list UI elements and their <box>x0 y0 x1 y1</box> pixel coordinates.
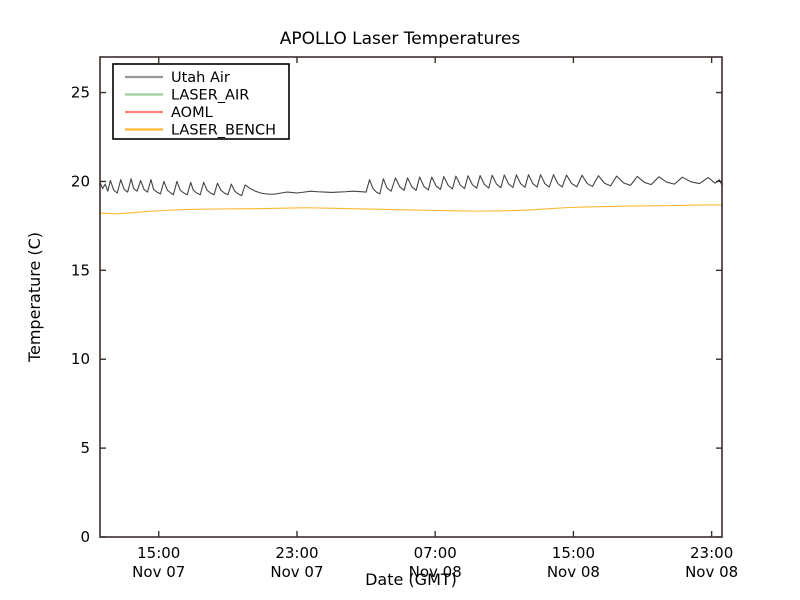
x-tick-label-time: 23:00 <box>275 544 318 562</box>
legend-label-laser-air: LASER_AIR <box>171 88 249 104</box>
temperature-line-chart: APOLLO Laser Temperatures 15:00Nov 0723:… <box>0 0 800 600</box>
figure-canvas: APOLLO Laser Temperatures 15:00Nov 0723:… <box>0 0 800 600</box>
x-tick-label-date: Nov 07 <box>132 563 185 581</box>
y-tick-label: 0 <box>80 528 90 546</box>
y-axis-label: Temperature (C) <box>25 232 44 363</box>
x-tick-label-date: Nov 07 <box>270 563 323 581</box>
legend-label-utah-air: Utah Air <box>171 70 230 86</box>
x-tick-label-time: 15:00 <box>552 544 595 562</box>
x-tick-label-time: 15:00 <box>137 544 180 562</box>
y-tick-label: 20 <box>71 172 90 190</box>
y-tick-label: 5 <box>80 439 90 457</box>
legend-label-laser-bench: LASER_BENCH <box>171 123 276 139</box>
x-tick-label-time: 23:00 <box>690 544 733 562</box>
x-axis-label: Date (GMT) <box>365 570 457 589</box>
x-tick-label-time: 07:00 <box>414 544 457 562</box>
chart-title: APOLLO Laser Temperatures <box>280 29 521 49</box>
x-tick-label-date: Nov 08 <box>685 563 738 581</box>
chart-legend[interactable]: Utah AirLASER_AIRAOMLLASER_BENCH <box>113 64 289 139</box>
y-tick-label: 10 <box>71 350 90 368</box>
x-tick-label-date: Nov 08 <box>547 563 600 581</box>
y-tick-label: 15 <box>71 261 90 279</box>
legend-label-aoml: AOML <box>171 105 213 121</box>
y-tick-label: 25 <box>71 84 90 102</box>
